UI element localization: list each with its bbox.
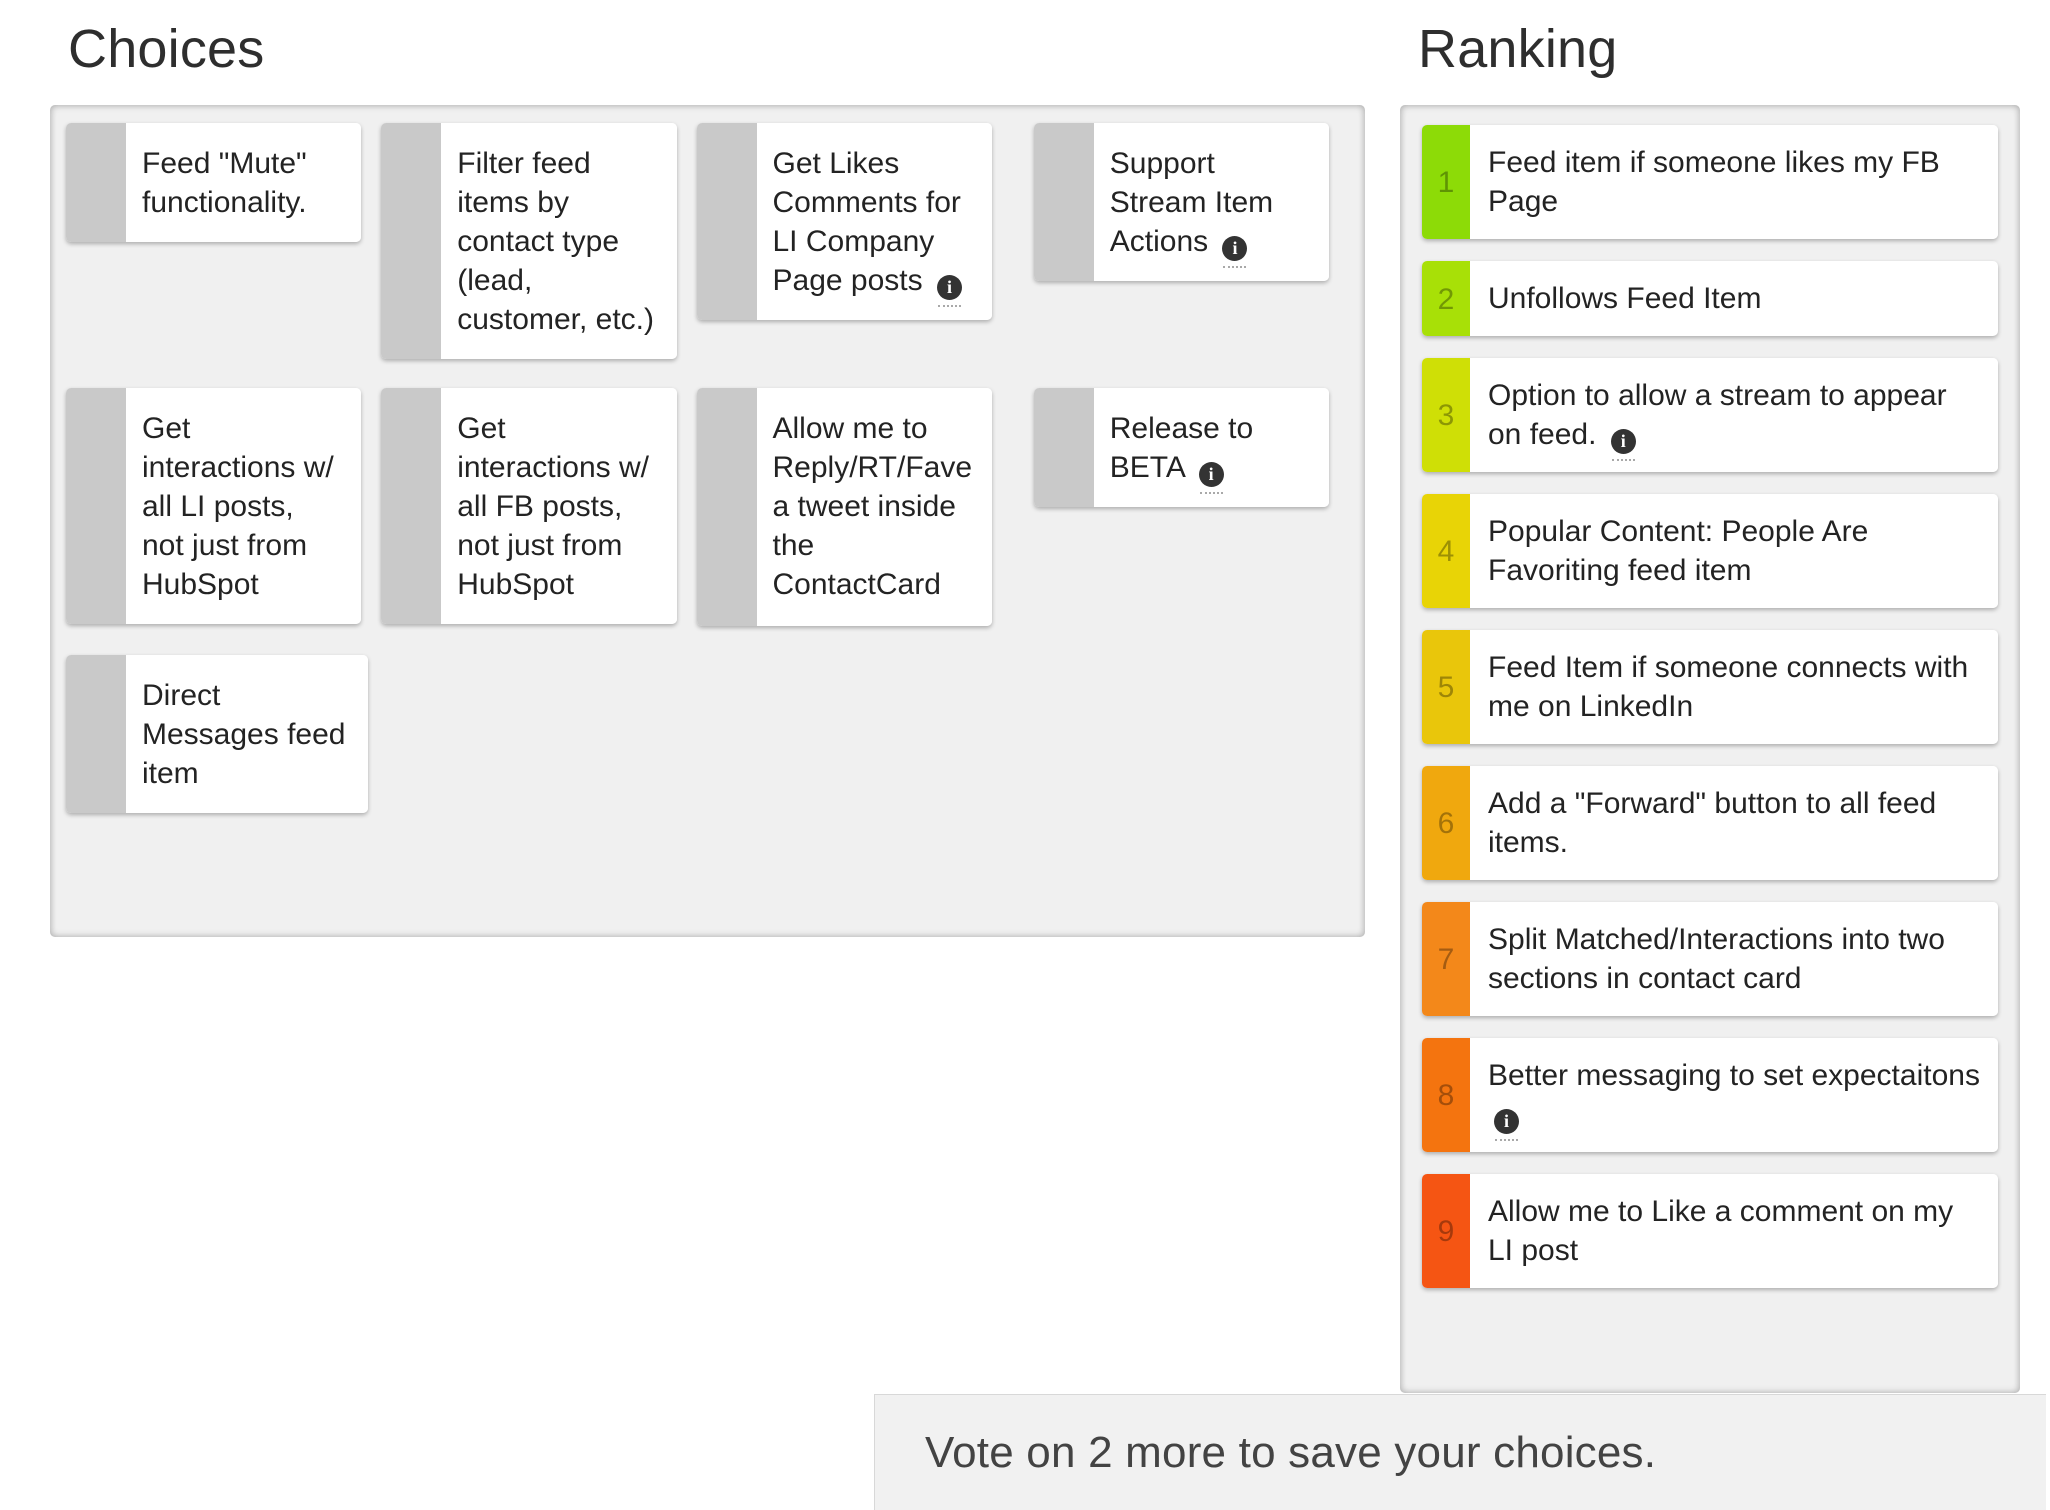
ranking-item-label: Unfollows Feed Item (1470, 261, 1777, 336)
choice-card-label: Support Stream Item Actions i (1094, 123, 1329, 281)
info-icon[interactable]: i (1199, 462, 1224, 487)
vote-status-bar: Vote on 2 more to save your choices. (874, 1394, 2046, 1510)
ranking-item[interactable]: 3Option to allow a stream to appear on f… (1422, 358, 1998, 472)
ranking-heading: Ranking (1418, 22, 1618, 76)
drag-handle[interactable] (697, 388, 757, 626)
ranking-position-badge: 8 (1422, 1038, 1470, 1152)
info-icon[interactable]: i (937, 275, 962, 300)
ranking-position-badge: 1 (1422, 125, 1470, 239)
choice-card[interactable]: Get interactions w/ all LI posts, not ju… (66, 388, 361, 624)
info-icon[interactable]: i (1222, 236, 1247, 261)
vote-status-message: Vote on 2 more to save your choices. (925, 1428, 1656, 1478)
choice-card[interactable]: Get interactions w/ all FB posts, not ju… (381, 388, 676, 624)
choice-card-label: Filter feed items by contact type (lead,… (441, 123, 676, 359)
choice-card[interactable]: Allow me to Reply/RT/Fave a tweet inside… (697, 388, 992, 626)
ranking-item-label: Better messaging to set expectaitons i (1470, 1038, 1998, 1152)
ranking-item-label: Feed Item if someone connects with me on… (1470, 630, 1998, 744)
drag-handle[interactable] (1034, 123, 1094, 281)
ranking-item-label: Option to allow a stream to appear on fe… (1470, 358, 1998, 472)
ranking-position-badge: 5 (1422, 630, 1470, 744)
drag-handle[interactable] (66, 655, 126, 813)
choice-card[interactable]: Support Stream Item Actions i (1034, 123, 1329, 281)
ranking-item[interactable]: 1Feed item if someone likes my FB Page (1422, 125, 1998, 239)
drag-handle[interactable] (66, 388, 126, 624)
ranking-item-label: Popular Content: People Are Favoriting f… (1470, 494, 1998, 608)
choice-card[interactable]: Release to BETA i (1034, 388, 1329, 507)
ranking-item[interactable]: 6Add a "Forward" button to all feed item… (1422, 766, 1998, 880)
choice-card-label: Direct Messages feed item (126, 655, 368, 813)
ranking-item[interactable]: 4Popular Content: People Are Favoriting … (1422, 494, 1998, 608)
choice-card[interactable]: Get Likes Comments for LI Company Page p… (697, 123, 992, 320)
ranking-position-badge: 9 (1422, 1174, 1470, 1288)
ranking-position-badge: 6 (1422, 766, 1470, 880)
ranking-position-badge: 4 (1422, 494, 1470, 608)
ranking-item-label: Allow me to Like a comment on my LI post (1470, 1174, 1998, 1288)
ranking-item[interactable]: 8Better messaging to set expectaitons i (1422, 1038, 1998, 1152)
info-icon[interactable]: i (1611, 429, 1636, 454)
choice-card-label: Get Likes Comments for LI Company Page p… (757, 123, 992, 320)
ranking-item-label: Feed item if someone likes my FB Page (1470, 125, 1998, 239)
ranking-panel: 1Feed item if someone likes my FB Page2U… (1400, 105, 2020, 1393)
ranking-item[interactable]: 2Unfollows Feed Item (1422, 261, 1998, 336)
choice-card[interactable]: Direct Messages feed item (66, 655, 368, 813)
drag-handle[interactable] (66, 123, 126, 242)
choice-card[interactable]: Filter feed items by contact type (lead,… (381, 123, 676, 359)
info-icon[interactable]: i (1494, 1109, 1519, 1134)
page-root: Choices Feed "Mute" functionality.Filter… (0, 0, 2050, 1510)
choice-card-label: Allow me to Reply/RT/Fave a tweet inside… (757, 388, 992, 626)
ranking-item[interactable]: 7Split Matched/Interactions into two sec… (1422, 902, 1998, 1016)
choice-card[interactable]: Feed "Mute" functionality. (66, 123, 361, 242)
choices-row: Feed "Mute" functionality.Filter feed it… (66, 123, 1349, 359)
drag-handle[interactable] (381, 123, 441, 359)
ranking-item-label: Split Matched/Interactions into two sect… (1470, 902, 1998, 1016)
drag-handle[interactable] (1034, 388, 1094, 507)
choices-card-grid: Feed "Mute" functionality.Filter feed it… (66, 123, 1349, 813)
ranking-item-label: Add a "Forward" button to all feed items… (1470, 766, 1998, 880)
choice-card-label: Get interactions w/ all LI posts, not ju… (126, 388, 361, 624)
ranking-item[interactable]: 5Feed Item if someone connects with me o… (1422, 630, 1998, 744)
choice-card-label: Release to BETA i (1094, 388, 1329, 507)
choices-row: Direct Messages feed item (66, 655, 1349, 813)
choices-heading: Choices (68, 22, 265, 76)
choices-panel: Feed "Mute" functionality.Filter feed it… (50, 105, 1365, 937)
choice-card-label: Get interactions w/ all FB posts, not ju… (441, 388, 676, 624)
ranking-position-badge: 7 (1422, 902, 1470, 1016)
ranking-position-badge: 3 (1422, 358, 1470, 472)
choices-row: Get interactions w/ all LI posts, not ju… (66, 388, 1349, 626)
ranking-position-badge: 2 (1422, 261, 1470, 336)
drag-handle[interactable] (697, 123, 757, 320)
drag-handle[interactable] (381, 388, 441, 624)
ranking-item[interactable]: 9Allow me to Like a comment on my LI pos… (1422, 1174, 1998, 1288)
choice-card-label: Feed "Mute" functionality. (126, 123, 361, 242)
ranking-list: 1Feed item if someone likes my FB Page2U… (1422, 125, 1998, 1288)
